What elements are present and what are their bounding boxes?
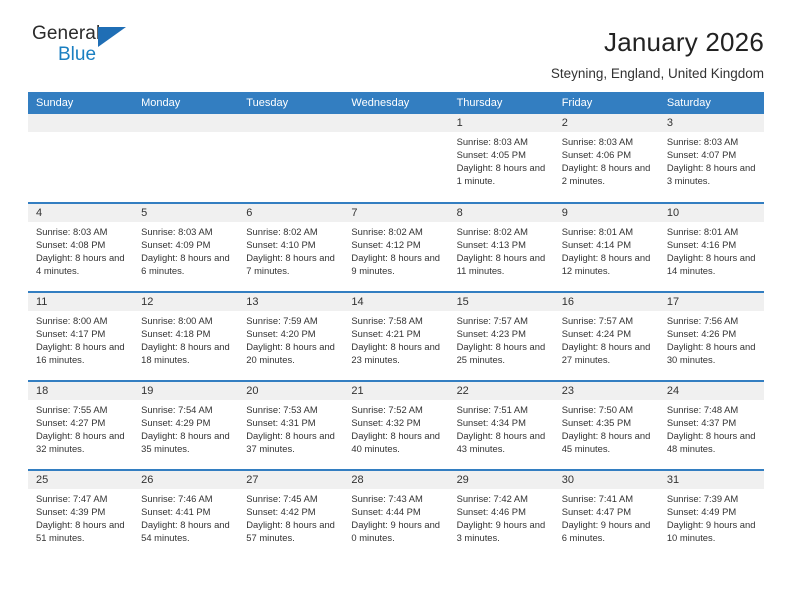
calendar-day-cell[interactable]: 2Sunrise: 8:03 AMSunset: 4:06 PMDaylight…	[554, 114, 659, 203]
sunrise-text: Sunrise: 7:57 AM	[457, 314, 548, 327]
sunrise-text: Sunrise: 7:55 AM	[36, 403, 127, 416]
daylight-text: Daylight: 8 hours and 11 minutes.	[457, 251, 548, 277]
sunrise-text: Sunrise: 7:58 AM	[351, 314, 442, 327]
sunrise-text: Sunrise: 8:03 AM	[141, 225, 232, 238]
day-number: 5	[133, 204, 238, 222]
calendar-day-cell[interactable]: 23Sunrise: 7:50 AMSunset: 4:35 PMDayligh…	[554, 381, 659, 470]
sunset-text: Sunset: 4:17 PM	[36, 327, 127, 340]
day-number: 4	[28, 204, 133, 222]
daylight-text: Daylight: 8 hours and 30 minutes.	[667, 340, 758, 366]
sunrise-text: Sunrise: 8:03 AM	[562, 135, 653, 148]
sunset-text: Sunset: 4:07 PM	[667, 148, 758, 161]
day-sun-info: Sunrise: 8:00 AMSunset: 4:18 PMDaylight:…	[133, 311, 238, 366]
day-number: 18	[28, 382, 133, 400]
daylight-text: Daylight: 8 hours and 23 minutes.	[351, 340, 442, 366]
sunrise-text: Sunrise: 8:01 AM	[562, 225, 653, 238]
sunset-text: Sunset: 4:18 PM	[141, 327, 232, 340]
day-number: 30	[554, 471, 659, 489]
day-number: 15	[449, 293, 554, 311]
day-number: 27	[238, 471, 343, 489]
day-number	[133, 114, 238, 132]
sunrise-text: Sunrise: 8:03 AM	[457, 135, 548, 148]
calendar-week-row: 4Sunrise: 8:03 AMSunset: 4:08 PMDaylight…	[28, 203, 764, 292]
day-sun-info: Sunrise: 7:54 AMSunset: 4:29 PMDaylight:…	[133, 400, 238, 455]
sunrise-text: Sunrise: 7:46 AM	[141, 492, 232, 505]
daylight-text: Daylight: 8 hours and 54 minutes.	[141, 518, 232, 544]
sunrise-text: Sunrise: 7:47 AM	[36, 492, 127, 505]
sunset-text: Sunset: 4:12 PM	[351, 238, 442, 251]
weekday-header-saturday: Saturday	[659, 92, 764, 114]
calendar-day-cell[interactable]: 31Sunrise: 7:39 AMSunset: 4:49 PMDayligh…	[659, 470, 764, 559]
day-number: 16	[554, 293, 659, 311]
day-number: 11	[28, 293, 133, 311]
sunrise-text: Sunrise: 7:59 AM	[246, 314, 337, 327]
day-sun-info: Sunrise: 7:47 AMSunset: 4:39 PMDaylight:…	[28, 489, 133, 544]
sunrise-text: Sunrise: 8:03 AM	[667, 135, 758, 148]
sunrise-text: Sunrise: 8:02 AM	[246, 225, 337, 238]
day-number: 21	[343, 382, 448, 400]
sunrise-text: Sunrise: 8:01 AM	[667, 225, 758, 238]
calendar-day-cell[interactable]: 13Sunrise: 7:59 AMSunset: 4:20 PMDayligh…	[238, 292, 343, 381]
page-header: General Blue January 2026 Steyning, Engl…	[28, 0, 764, 92]
day-sun-info: Sunrise: 8:03 AMSunset: 4:09 PMDaylight:…	[133, 222, 238, 277]
sunset-text: Sunset: 4:34 PM	[457, 416, 548, 429]
weekday-header-monday: Monday	[133, 92, 238, 114]
calendar-day-cell[interactable]: 17Sunrise: 7:56 AMSunset: 4:26 PMDayligh…	[659, 292, 764, 381]
calendar-day-cell-empty	[133, 114, 238, 203]
calendar-header-row: SundayMondayTuesdayWednesdayThursdayFrid…	[28, 92, 764, 114]
calendar-day-cell[interactable]: 22Sunrise: 7:51 AMSunset: 4:34 PMDayligh…	[449, 381, 554, 470]
calendar-body: 1Sunrise: 8:03 AMSunset: 4:05 PMDaylight…	[28, 114, 764, 559]
calendar-day-cell[interactable]: 15Sunrise: 7:57 AMSunset: 4:23 PMDayligh…	[449, 292, 554, 381]
daylight-text: Daylight: 8 hours and 40 minutes.	[351, 429, 442, 455]
calendar-day-cell-empty	[28, 114, 133, 203]
generalblue-logo[interactable]: General Blue	[28, 24, 148, 72]
sunset-text: Sunset: 4:23 PM	[457, 327, 548, 340]
calendar-day-cell[interactable]: 1Sunrise: 8:03 AMSunset: 4:05 PMDaylight…	[449, 114, 554, 203]
sunset-text: Sunset: 4:06 PM	[562, 148, 653, 161]
calendar-day-cell[interactable]: 24Sunrise: 7:48 AMSunset: 4:37 PMDayligh…	[659, 381, 764, 470]
daylight-text: Daylight: 9 hours and 3 minutes.	[457, 518, 548, 544]
day-sun-info: Sunrise: 7:51 AMSunset: 4:34 PMDaylight:…	[449, 400, 554, 455]
day-sun-info: Sunrise: 7:53 AMSunset: 4:31 PMDaylight:…	[238, 400, 343, 455]
day-sun-info: Sunrise: 7:52 AMSunset: 4:32 PMDaylight:…	[343, 400, 448, 455]
day-sun-info: Sunrise: 7:55 AMSunset: 4:27 PMDaylight:…	[28, 400, 133, 455]
sunrise-text: Sunrise: 8:00 AM	[141, 314, 232, 327]
sunset-text: Sunset: 4:21 PM	[351, 327, 442, 340]
day-sun-info: Sunrise: 7:56 AMSunset: 4:26 PMDaylight:…	[659, 311, 764, 366]
calendar-day-cell[interactable]: 7Sunrise: 8:02 AMSunset: 4:12 PMDaylight…	[343, 203, 448, 292]
sunrise-text: Sunrise: 7:54 AM	[141, 403, 232, 416]
sunrise-text: Sunrise: 8:02 AM	[351, 225, 442, 238]
day-number: 29	[449, 471, 554, 489]
daylight-text: Daylight: 8 hours and 6 minutes.	[141, 251, 232, 277]
calendar-day-cell[interactable]: 3Sunrise: 8:03 AMSunset: 4:07 PMDaylight…	[659, 114, 764, 203]
calendar-day-cell[interactable]: 14Sunrise: 7:58 AMSunset: 4:21 PMDayligh…	[343, 292, 448, 381]
day-number: 17	[659, 293, 764, 311]
daylight-text: Daylight: 8 hours and 20 minutes.	[246, 340, 337, 366]
day-number	[28, 114, 133, 132]
calendar-day-cell[interactable]: 25Sunrise: 7:47 AMSunset: 4:39 PMDayligh…	[28, 470, 133, 559]
calendar-day-cell-empty	[238, 114, 343, 203]
day-number: 23	[554, 382, 659, 400]
calendar-day-cell[interactable]: 28Sunrise: 7:43 AMSunset: 4:44 PMDayligh…	[343, 470, 448, 559]
daylight-text: Daylight: 9 hours and 0 minutes.	[351, 518, 442, 544]
day-sun-info: Sunrise: 7:39 AMSunset: 4:49 PMDaylight:…	[659, 489, 764, 544]
day-sun-info: Sunrise: 7:45 AMSunset: 4:42 PMDaylight:…	[238, 489, 343, 544]
day-number: 13	[238, 293, 343, 311]
sunset-text: Sunset: 4:47 PM	[562, 505, 653, 518]
day-sun-info: Sunrise: 7:50 AMSunset: 4:35 PMDaylight:…	[554, 400, 659, 455]
day-sun-info: Sunrise: 7:43 AMSunset: 4:44 PMDaylight:…	[343, 489, 448, 544]
weekday-header-sunday: Sunday	[28, 92, 133, 114]
day-sun-info: Sunrise: 8:03 AMSunset: 4:06 PMDaylight:…	[554, 132, 659, 187]
sunset-text: Sunset: 4:13 PM	[457, 238, 548, 251]
sunset-text: Sunset: 4:41 PM	[141, 505, 232, 518]
sunset-text: Sunset: 4:09 PM	[141, 238, 232, 251]
calendar-day-cell[interactable]: 21Sunrise: 7:52 AMSunset: 4:32 PMDayligh…	[343, 381, 448, 470]
daylight-text: Daylight: 8 hours and 48 minutes.	[667, 429, 758, 455]
sunset-text: Sunset: 4:46 PM	[457, 505, 548, 518]
day-sun-info: Sunrise: 8:01 AMSunset: 4:14 PMDaylight:…	[554, 222, 659, 277]
page-title: January 2026	[551, 26, 764, 58]
day-number: 1	[449, 114, 554, 132]
calendar-day-cell[interactable]: 29Sunrise: 7:42 AMSunset: 4:46 PMDayligh…	[449, 470, 554, 559]
sunrise-text: Sunrise: 7:52 AM	[351, 403, 442, 416]
calendar-day-cell[interactable]: 4Sunrise: 8:03 AMSunset: 4:08 PMDaylight…	[28, 203, 133, 292]
day-number: 28	[343, 471, 448, 489]
day-sun-info: Sunrise: 7:42 AMSunset: 4:46 PMDaylight:…	[449, 489, 554, 544]
daylight-text: Daylight: 8 hours and 1 minute.	[457, 161, 548, 187]
calendar-day-cell[interactable]: 27Sunrise: 7:45 AMSunset: 4:42 PMDayligh…	[238, 470, 343, 559]
sunset-text: Sunset: 4:24 PM	[562, 327, 653, 340]
calendar-day-cell[interactable]: 9Sunrise: 8:01 AMSunset: 4:14 PMDaylight…	[554, 203, 659, 292]
calendar-day-cell[interactable]: 12Sunrise: 8:00 AMSunset: 4:18 PMDayligh…	[133, 292, 238, 381]
sunset-text: Sunset: 4:26 PM	[667, 327, 758, 340]
calendar-week-row: 11Sunrise: 8:00 AMSunset: 4:17 PMDayligh…	[28, 292, 764, 381]
calendar-day-cell[interactable]: 19Sunrise: 7:54 AMSunset: 4:29 PMDayligh…	[133, 381, 238, 470]
sunrise-text: Sunrise: 7:50 AM	[562, 403, 653, 416]
sunset-text: Sunset: 4:37 PM	[667, 416, 758, 429]
sunrise-text: Sunrise: 7:39 AM	[667, 492, 758, 505]
sunset-text: Sunset: 4:42 PM	[246, 505, 337, 518]
daylight-text: Daylight: 9 hours and 6 minutes.	[562, 518, 653, 544]
calendar-day-cell[interactable]: 11Sunrise: 8:00 AMSunset: 4:17 PMDayligh…	[28, 292, 133, 381]
day-number: 7	[343, 204, 448, 222]
day-number: 9	[554, 204, 659, 222]
daylight-text: Daylight: 8 hours and 37 minutes.	[246, 429, 337, 455]
daylight-text: Daylight: 8 hours and 51 minutes.	[36, 518, 127, 544]
daylight-text: Daylight: 8 hours and 25 minutes.	[457, 340, 548, 366]
day-number: 24	[659, 382, 764, 400]
sunrise-text: Sunrise: 7:42 AM	[457, 492, 548, 505]
daylight-text: Daylight: 8 hours and 7 minutes.	[246, 251, 337, 277]
day-sun-info: Sunrise: 7:59 AMSunset: 4:20 PMDaylight:…	[238, 311, 343, 366]
day-sun-info: Sunrise: 7:46 AMSunset: 4:41 PMDaylight:…	[133, 489, 238, 544]
daylight-text: Daylight: 8 hours and 57 minutes.	[246, 518, 337, 544]
sunrise-text: Sunrise: 7:41 AM	[562, 492, 653, 505]
calendar-week-row: 18Sunrise: 7:55 AMSunset: 4:27 PMDayligh…	[28, 381, 764, 470]
sunset-text: Sunset: 4:05 PM	[457, 148, 548, 161]
weekday-header-friday: Friday	[554, 92, 659, 114]
sunset-text: Sunset: 4:44 PM	[351, 505, 442, 518]
sunrise-text: Sunrise: 7:43 AM	[351, 492, 442, 505]
day-number	[343, 114, 448, 132]
daylight-text: Daylight: 8 hours and 32 minutes.	[36, 429, 127, 455]
sunset-text: Sunset: 4:29 PM	[141, 416, 232, 429]
day-number: 26	[133, 471, 238, 489]
page-subtitle: Steyning, England, United Kingdom	[551, 64, 764, 84]
calendar-table: SundayMondayTuesdayWednesdayThursdayFrid…	[28, 92, 764, 559]
day-sun-info: Sunrise: 8:00 AMSunset: 4:17 PMDaylight:…	[28, 311, 133, 366]
sunset-text: Sunset: 4:32 PM	[351, 416, 442, 429]
sunset-text: Sunset: 4:20 PM	[246, 327, 337, 340]
calendar-day-cell[interactable]: 5Sunrise: 8:03 AMSunset: 4:09 PMDaylight…	[133, 203, 238, 292]
day-sun-info: Sunrise: 7:58 AMSunset: 4:21 PMDaylight:…	[343, 311, 448, 366]
day-number: 10	[659, 204, 764, 222]
daylight-text: Daylight: 8 hours and 16 minutes.	[36, 340, 127, 366]
sunset-text: Sunset: 4:10 PM	[246, 238, 337, 251]
logo-text-blue: Blue	[32, 45, 148, 65]
daylight-text: Daylight: 8 hours and 18 minutes.	[141, 340, 232, 366]
calendar-day-cell[interactable]: 6Sunrise: 8:02 AMSunset: 4:10 PMDaylight…	[238, 203, 343, 292]
daylight-text: Daylight: 8 hours and 2 minutes.	[562, 161, 653, 187]
calendar-day-cell[interactable]: 8Sunrise: 8:02 AMSunset: 4:13 PMDaylight…	[449, 203, 554, 292]
daylight-text: Daylight: 9 hours and 10 minutes.	[667, 518, 758, 544]
sunset-text: Sunset: 4:49 PM	[667, 505, 758, 518]
calendar-week-row: 1Sunrise: 8:03 AMSunset: 4:05 PMDaylight…	[28, 114, 764, 203]
day-number: 12	[133, 293, 238, 311]
day-number: 31	[659, 471, 764, 489]
sunset-text: Sunset: 4:08 PM	[36, 238, 127, 251]
sunset-text: Sunset: 4:39 PM	[36, 505, 127, 518]
day-number: 19	[133, 382, 238, 400]
title-block: January 2026 Steyning, England, United K…	[551, 24, 764, 84]
day-sun-info: Sunrise: 7:48 AMSunset: 4:37 PMDaylight:…	[659, 400, 764, 455]
day-sun-info: Sunrise: 8:03 AMSunset: 4:07 PMDaylight:…	[659, 132, 764, 187]
sunset-text: Sunset: 4:27 PM	[36, 416, 127, 429]
daylight-text: Daylight: 8 hours and 35 minutes.	[141, 429, 232, 455]
weekday-header-tuesday: Tuesday	[238, 92, 343, 114]
day-number: 8	[449, 204, 554, 222]
sunrise-text: Sunrise: 7:48 AM	[667, 403, 758, 416]
sunrise-text: Sunrise: 7:45 AM	[246, 492, 337, 505]
daylight-text: Daylight: 8 hours and 12 minutes.	[562, 251, 653, 277]
daylight-text: Daylight: 8 hours and 3 minutes.	[667, 161, 758, 187]
sunset-text: Sunset: 4:35 PM	[562, 416, 653, 429]
daylight-text: Daylight: 8 hours and 43 minutes.	[457, 429, 548, 455]
day-number: 22	[449, 382, 554, 400]
sunrise-text: Sunrise: 7:57 AM	[562, 314, 653, 327]
daylight-text: Daylight: 8 hours and 14 minutes.	[667, 251, 758, 277]
sunrise-text: Sunrise: 7:51 AM	[457, 403, 548, 416]
sunset-text: Sunset: 4:16 PM	[667, 238, 758, 251]
sunrise-text: Sunrise: 8:02 AM	[457, 225, 548, 238]
day-number: 3	[659, 114, 764, 132]
daylight-text: Daylight: 8 hours and 4 minutes.	[36, 251, 127, 277]
daylight-text: Daylight: 8 hours and 45 minutes.	[562, 429, 653, 455]
day-number: 25	[28, 471, 133, 489]
day-sun-info: Sunrise: 8:02 AMSunset: 4:13 PMDaylight:…	[449, 222, 554, 277]
sunset-text: Sunset: 4:14 PM	[562, 238, 653, 251]
day-number	[238, 114, 343, 132]
calendar-day-cell-empty	[343, 114, 448, 203]
calendar-day-cell[interactable]: 10Sunrise: 8:01 AMSunset: 4:16 PMDayligh…	[659, 203, 764, 292]
day-number: 6	[238, 204, 343, 222]
sunrise-text: Sunrise: 7:53 AM	[246, 403, 337, 416]
calendar-day-cell[interactable]: 16Sunrise: 7:57 AMSunset: 4:24 PMDayligh…	[554, 292, 659, 381]
sunset-text: Sunset: 4:31 PM	[246, 416, 337, 429]
logo-text-general: General	[32, 24, 148, 44]
day-sun-info: Sunrise: 8:02 AMSunset: 4:12 PMDaylight:…	[343, 222, 448, 277]
calendar-week-row: 25Sunrise: 7:47 AMSunset: 4:39 PMDayligh…	[28, 470, 764, 559]
daylight-text: Daylight: 8 hours and 9 minutes.	[351, 251, 442, 277]
day-sun-info: Sunrise: 8:01 AMSunset: 4:16 PMDaylight:…	[659, 222, 764, 277]
sunrise-text: Sunrise: 7:56 AM	[667, 314, 758, 327]
day-sun-info: Sunrise: 8:03 AMSunset: 4:08 PMDaylight:…	[28, 222, 133, 277]
triangle-icon	[98, 27, 126, 47]
sunrise-text: Sunrise: 8:03 AM	[36, 225, 127, 238]
calendar-day-cell[interactable]: 18Sunrise: 7:55 AMSunset: 4:27 PMDayligh…	[28, 381, 133, 470]
day-number: 20	[238, 382, 343, 400]
calendar-day-cell[interactable]: 20Sunrise: 7:53 AMSunset: 4:31 PMDayligh…	[238, 381, 343, 470]
day-sun-info: Sunrise: 7:57 AMSunset: 4:24 PMDaylight:…	[554, 311, 659, 366]
calendar-day-cell[interactable]: 26Sunrise: 7:46 AMSunset: 4:41 PMDayligh…	[133, 470, 238, 559]
sunrise-text: Sunrise: 8:00 AM	[36, 314, 127, 327]
calendar-page: General Blue January 2026 Steyning, Engl…	[0, 0, 792, 612]
weekday-header-thursday: Thursday	[449, 92, 554, 114]
day-sun-info: Sunrise: 7:41 AMSunset: 4:47 PMDaylight:…	[554, 489, 659, 544]
daylight-text: Daylight: 8 hours and 27 minutes.	[562, 340, 653, 366]
day-sun-info: Sunrise: 8:03 AMSunset: 4:05 PMDaylight:…	[449, 132, 554, 187]
day-sun-info: Sunrise: 8:02 AMSunset: 4:10 PMDaylight:…	[238, 222, 343, 277]
day-number: 14	[343, 293, 448, 311]
day-number: 2	[554, 114, 659, 132]
day-sun-info: Sunrise: 7:57 AMSunset: 4:23 PMDaylight:…	[449, 311, 554, 366]
weekday-header-wednesday: Wednesday	[343, 92, 448, 114]
calendar-day-cell[interactable]: 30Sunrise: 7:41 AMSunset: 4:47 PMDayligh…	[554, 470, 659, 559]
